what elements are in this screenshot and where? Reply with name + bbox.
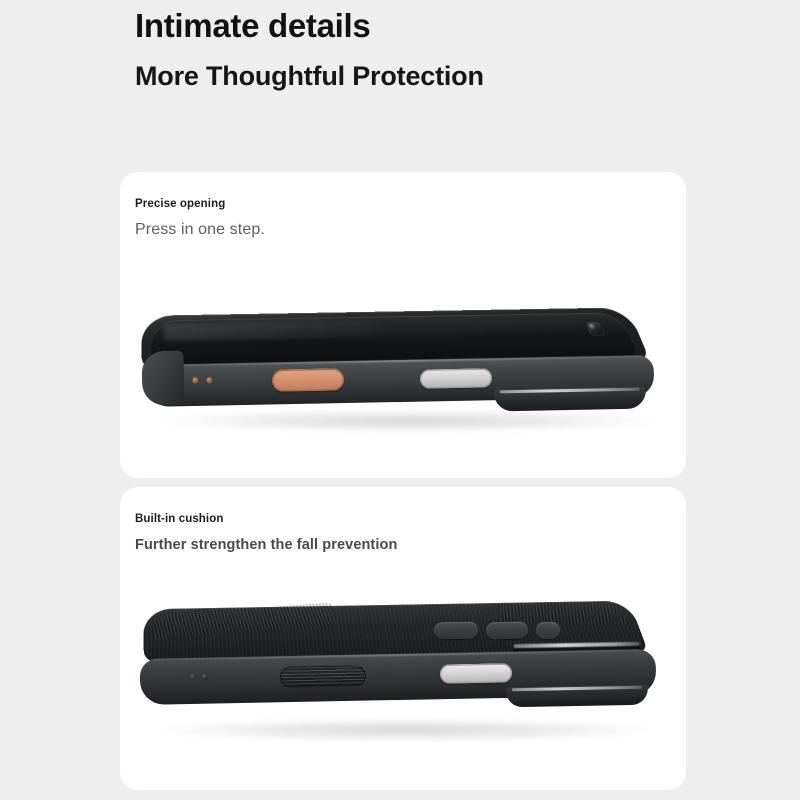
volume-slider-cutout — [440, 663, 512, 683]
feature-card-precise-opening[interactable]: Precise opening Press in one step. — [120, 172, 686, 478]
microphone-dot-icon — [202, 674, 208, 680]
phone-case-side-view — [142, 307, 654, 412]
phone-shadow — [156, 719, 656, 741]
product-image-built-in-cushion — [120, 487, 686, 790]
microphone-dot-icon — [190, 674, 196, 680]
action-button-cutout — [272, 368, 344, 391]
phone-left-cap — [141, 351, 184, 406]
screen-gloss-highlight — [164, 318, 485, 340]
page-headings: Intimate details More Thoughtful Protect… — [135, 6, 755, 94]
phone-shadow — [160, 410, 660, 432]
inner-button-bump — [536, 622, 560, 639]
volume-slider-cutout — [420, 368, 492, 388]
phone-case-interior-view — [138, 602, 658, 722]
product-image-precise-opening — [120, 172, 686, 478]
microphone-dot-icon — [192, 377, 199, 384]
camera-bump — [494, 387, 646, 412]
page-subtitle: More Thoughtful Protection — [135, 58, 755, 94]
speaker-grille-cutout — [280, 665, 366, 688]
camera-bump — [506, 685, 648, 708]
feature-card-built-in-cushion[interactable]: Built-in cushion Further strengthen the … — [120, 487, 686, 790]
microphone-dot-icon — [206, 377, 213, 384]
page-title: Intimate details — [135, 6, 755, 46]
inner-button-bump — [434, 622, 478, 640]
cushion-ribbing-left — [150, 603, 337, 639]
inner-button-bump — [486, 622, 528, 640]
product-detail-page: Intimate details More Thoughtful Protect… — [0, 0, 800, 800]
